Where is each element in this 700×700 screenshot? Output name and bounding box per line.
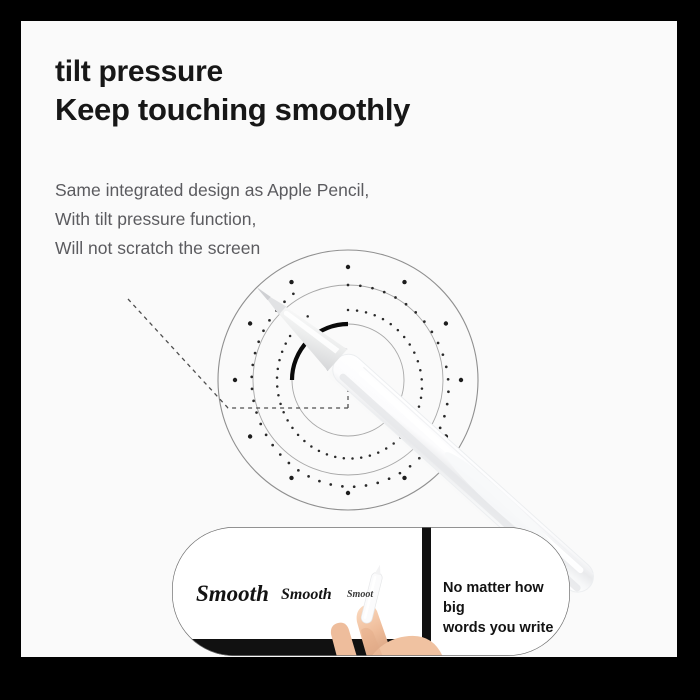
body-line-1: Same integrated design as Apple Pencil, (55, 176, 485, 205)
inner-tick-ring (276, 309, 423, 460)
headline-line-2: Keep touching smoothly (55, 91, 635, 129)
outer-tick-ring (250, 284, 449, 488)
outer-dot-ring (233, 265, 463, 495)
stylus-joint-ring (320, 342, 348, 371)
handwriting-word-large: Smooth (196, 581, 269, 607)
panel-caption-line-1: No matter how big (443, 578, 563, 618)
handwriting-word-small: Smoot (347, 589, 373, 600)
tablet-right-bezel (422, 526, 431, 657)
poster-frame: Smooth Smooth Smoot No matter how big wo… (0, 0, 700, 700)
middle-circle (253, 285, 443, 475)
outer-circle (218, 250, 478, 510)
stylus-cone (267, 294, 347, 370)
body-line-2: With tilt pressure function, (55, 205, 485, 234)
panel-caption: No matter how big words you write (443, 578, 563, 638)
headline-block: tilt pressure Keep touching smoothly (55, 53, 635, 129)
handwriting-demo-panel: Smooth Smooth Smoot No matter how big wo… (171, 526, 571, 657)
body-copy-block: Same integrated design as Apple Pencil, … (55, 176, 485, 263)
leader-line (128, 299, 348, 408)
headline-line-1: tilt pressure (55, 53, 635, 91)
stylus-nib (256, 286, 271, 300)
panel-caption-line-2: words you write (443, 618, 563, 638)
poster-canvas: Smooth Smooth Smoot No matter how big wo… (21, 21, 677, 657)
inner-circle (292, 324, 404, 436)
stylus-nib-collar (264, 293, 286, 315)
gauge-arc (292, 324, 348, 380)
contact-point-marker (343, 375, 354, 386)
handwriting-word-medium: Smooth (281, 586, 332, 604)
stylus-cone-highlight (283, 305, 340, 358)
body-line-3: Will not scratch the screen (55, 234, 485, 263)
